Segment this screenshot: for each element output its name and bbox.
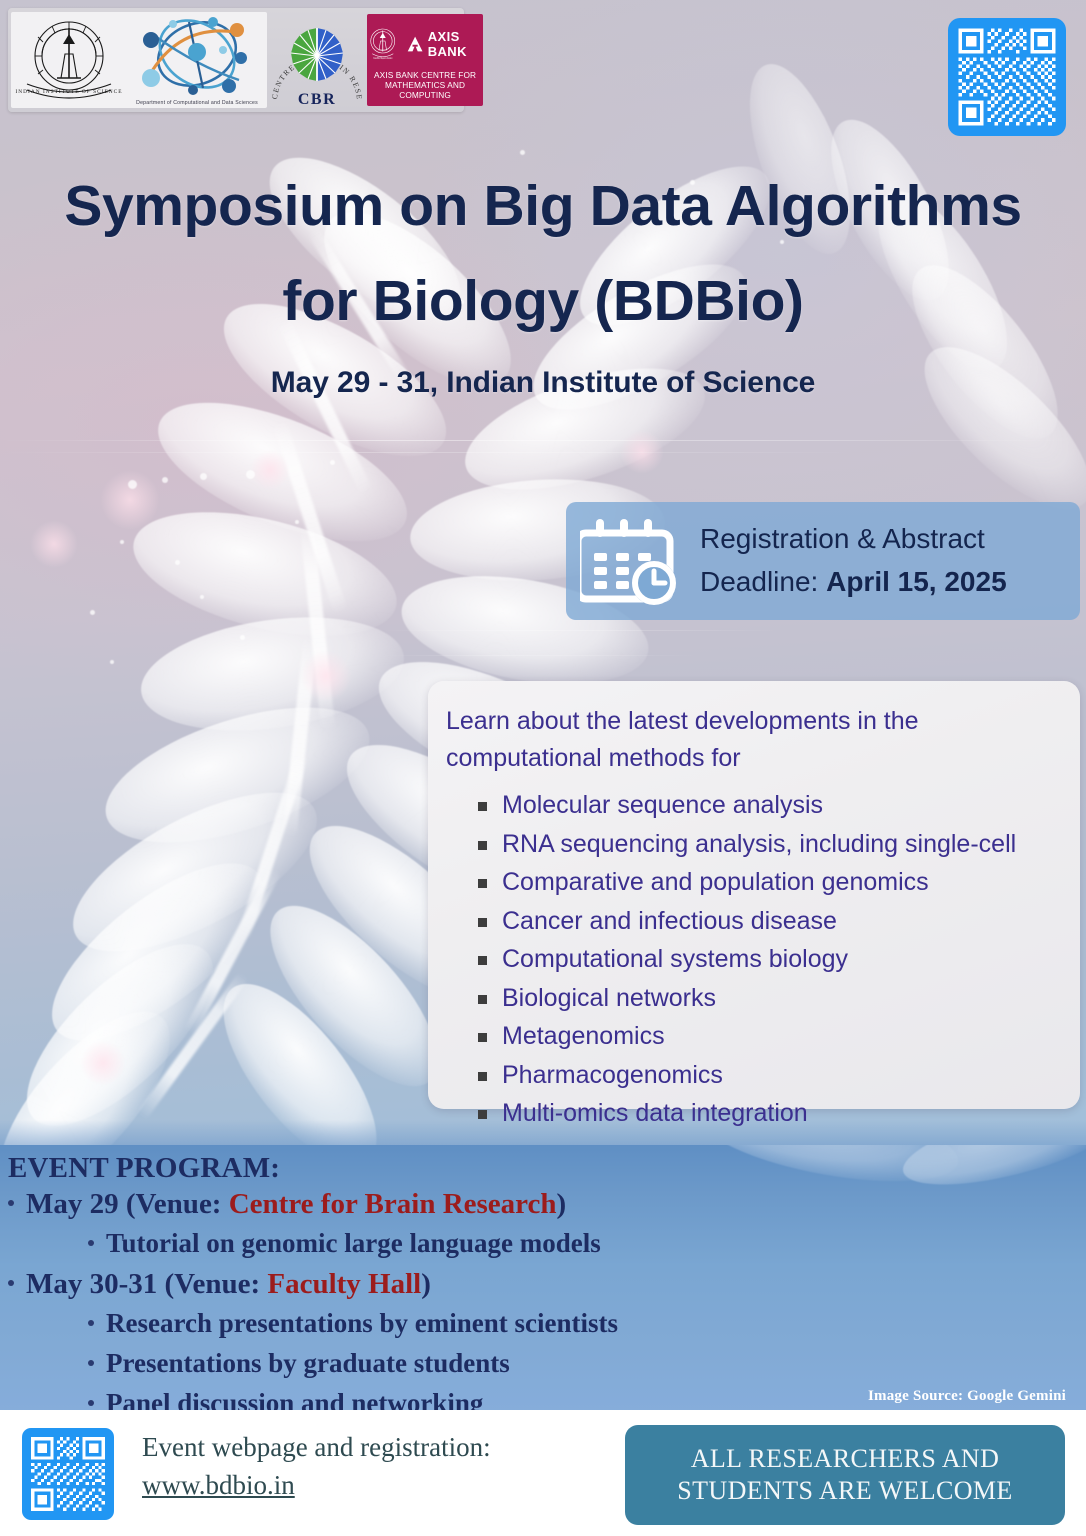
title-line-1: Symposium on Big Data Algorithms xyxy=(0,178,1086,235)
day2-suffix: ) xyxy=(421,1268,431,1300)
title-line-2: for Biology (BDBio) xyxy=(0,273,1086,330)
round-bullet-icon xyxy=(88,1360,94,1366)
poster-title-block: Symposium on Big Data Algorithms for Bio… xyxy=(0,178,1086,400)
deadline-banner: Registration & Abstract Deadline: April … xyxy=(566,502,1080,620)
day2-prefix: May 30-31 (Venue: xyxy=(26,1268,267,1300)
list-item: Comparative and population genomics xyxy=(446,865,1062,901)
square-bullet-icon xyxy=(478,995,487,1004)
round-bullet-icon xyxy=(88,1400,94,1406)
day1-venue: Centre for Brain Research xyxy=(229,1188,557,1220)
topic-label: Pharmacogenomics xyxy=(502,1061,723,1089)
svg-text:CBR: CBR xyxy=(298,91,336,108)
program-day1-item: Tutorial on genomic large language model… xyxy=(88,1228,601,1259)
square-bullet-icon xyxy=(478,841,487,850)
iisc-logo-icon: INDIAN INSTITUTE OF SCIENCE xyxy=(11,14,127,106)
topic-label: Biological networks xyxy=(502,984,716,1012)
day2-venue: Faculty Hall xyxy=(267,1268,421,1300)
footer-qr-code[interactable] xyxy=(22,1428,114,1520)
topic-label: Comparative and population genomics xyxy=(502,868,929,896)
topic-label: Molecular sequence analysis xyxy=(502,791,823,819)
welcome-badge: ALL RESEARCHERS AND STUDENTS ARE WELCOME xyxy=(625,1425,1065,1525)
day2-item-label: Research presentations by eminent scient… xyxy=(106,1308,618,1338)
round-bullet-icon xyxy=(88,1240,94,1246)
program-day2-item-1: Research presentations by eminent scient… xyxy=(88,1308,618,1339)
list-item: Molecular sequence analysis xyxy=(446,788,1062,824)
day1-item-label: Tutorial on genomic large language model… xyxy=(106,1228,601,1258)
poster-root: INDIAN INSTITUTE OF SCIENCE xyxy=(0,0,1086,1536)
topic-label: Multi-omics data integration xyxy=(502,1099,808,1127)
day2-item-label: Presentations by graduate students xyxy=(106,1348,510,1378)
program-heading: EVENT PROGRAM: xyxy=(8,1152,280,1185)
welcome-line-1: ALL RESEARCHERS AND xyxy=(691,1443,1000,1475)
square-bullet-icon xyxy=(478,956,487,965)
axis-bank-mark-icon xyxy=(407,33,423,55)
top-right-qr-code[interactable] xyxy=(948,18,1066,136)
title-subtitle: May 29 - 31, Indian Institute of Science xyxy=(0,366,1086,400)
topic-label: Cancer and infectious disease xyxy=(502,907,837,935)
round-bullet-icon xyxy=(8,1200,14,1206)
topic-label: RNA sequencing analysis, including singl… xyxy=(502,830,1016,858)
footer-registration-block: Event webpage and registration: www.bdbi… xyxy=(142,1428,491,1505)
event-program-section: EVENT PROGRAM: May 29 (Venue: Centre for… xyxy=(0,1150,1086,1410)
day1-suffix: ) xyxy=(557,1188,567,1220)
cds-network-logo-icon xyxy=(127,14,267,100)
list-item: Pharmacogenomics xyxy=(446,1058,1062,1094)
topics-card: Learn about the latest developments in t… xyxy=(428,681,1080,1109)
topic-label: Metagenomics xyxy=(502,1022,665,1050)
iisc-emblem-small-icon: भारतीय विज्ञान संस्थान xyxy=(367,20,399,68)
square-bullet-icon xyxy=(478,918,487,927)
day1-prefix: May 29 (Venue: xyxy=(26,1188,229,1220)
topics-intro-text: Learn about the latest developments in t… xyxy=(446,703,1062,776)
axis-bank-logo-group: भारतीय विज्ञान संस्थान AXIS BANK AXIS BA… xyxy=(367,14,483,106)
event-website-link[interactable]: www.bdbio.in xyxy=(142,1466,295,1504)
deadline-date: April 15, 2025 xyxy=(826,566,1007,597)
square-bullet-icon xyxy=(478,1110,487,1119)
list-item: RNA sequencing analysis, including singl… xyxy=(446,827,1062,863)
axis-bank-centre-label: AXIS BANK CENTRE FORMATHEMATICS AND COMP… xyxy=(367,70,483,100)
svg-text:भारतीय विज्ञान संस्थान: भारतीय विज्ञान संस्थान xyxy=(373,56,393,60)
welcome-line-2: STUDENTS ARE WELCOME xyxy=(677,1475,1012,1507)
image-source-credit: Image Source: Google Gemini xyxy=(868,1388,1066,1405)
iisc-logo-group: INDIAN INSTITUTE OF SCIENCE xyxy=(11,12,267,108)
calendar-clock-icon xyxy=(580,515,684,607)
topic-label: Computational systems biology xyxy=(502,945,848,973)
cds-logo-caption: Department of Computational and Data Sci… xyxy=(127,100,267,106)
list-item: Computational systems biology xyxy=(446,942,1062,978)
program-day1: May 29 (Venue: Centre for Brain Research… xyxy=(8,1188,566,1221)
round-bullet-icon xyxy=(88,1320,94,1326)
list-item: Multi-omics data integration xyxy=(446,1096,1062,1132)
program-day2-item-2: Presentations by graduate students xyxy=(88,1348,510,1379)
list-item: Metagenomics xyxy=(446,1019,1062,1055)
footer-webpage-label: Event webpage and registration: xyxy=(142,1428,491,1466)
square-bullet-icon xyxy=(478,1072,487,1081)
axis-bank-brand-label: AXIS BANK xyxy=(428,29,483,59)
round-bullet-icon xyxy=(8,1280,14,1286)
square-bullet-icon xyxy=(478,879,487,888)
deadline-prefix: Deadline: xyxy=(700,566,826,597)
sponsor-logo-banner: INDIAN INSTITUTE OF SCIENCE xyxy=(8,8,464,112)
svg-text:INDIAN INSTITUTE OF SCIENCE: INDIAN INSTITUTE OF SCIENCE xyxy=(15,89,122,95)
cbr-logo-icon: CENTRE FOR BRAIN RESEARCH xyxy=(267,10,367,110)
list-item: Biological networks xyxy=(446,981,1062,1017)
topics-list: Molecular sequence analysis RNA sequenci… xyxy=(446,788,1062,1132)
deadline-line-2: Deadline: April 15, 2025 xyxy=(700,561,1007,604)
program-day2: May 30-31 (Venue: Faculty Hall) xyxy=(8,1268,431,1301)
square-bullet-icon xyxy=(478,802,487,811)
list-item: Cancer and infectious disease xyxy=(446,904,1062,940)
square-bullet-icon xyxy=(478,1033,487,1042)
cbr-logo-group: CENTRE FOR BRAIN RESEARCH xyxy=(267,10,367,110)
deadline-text-block: Registration & Abstract Deadline: April … xyxy=(700,518,1007,603)
deadline-line-1: Registration & Abstract xyxy=(700,518,1007,561)
